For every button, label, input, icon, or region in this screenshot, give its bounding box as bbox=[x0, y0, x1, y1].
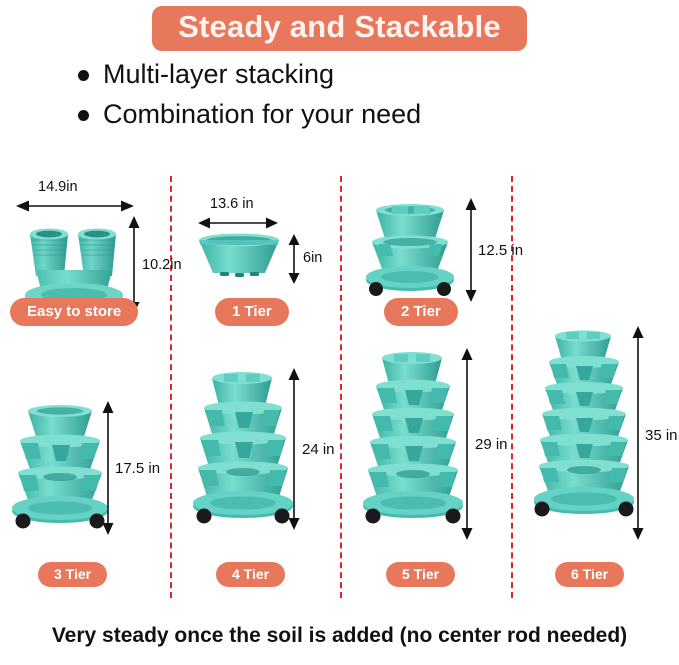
planter-illustration-2-tier bbox=[364, 196, 456, 300]
planter-illustration-6-tier bbox=[531, 324, 637, 542]
width-label: 14.9in bbox=[38, 179, 78, 195]
list-item: Combination for your need bbox=[78, 97, 638, 133]
height-dimension-arrow bbox=[101, 401, 115, 535]
height-dimension-arrow bbox=[464, 198, 478, 302]
width-dimension-arrow bbox=[16, 199, 134, 213]
bullet-dot-icon bbox=[78, 70, 89, 81]
caster-wheel bbox=[535, 502, 550, 517]
badge-row-1-tier: 1 Tier bbox=[215, 298, 289, 326]
caster-wheel bbox=[16, 514, 31, 529]
bullet-text: Multi-layer stacking bbox=[103, 57, 334, 93]
height-label: 12.5 in bbox=[478, 242, 523, 259]
product-cell-5-tier: 29 in 5 Tier bbox=[340, 336, 511, 598]
badge-row-6-tier: 6 Tier bbox=[555, 562, 624, 587]
status-badge[interactable]: 3 Tier bbox=[38, 562, 107, 587]
status-badge[interactable]: 6 Tier bbox=[555, 562, 624, 587]
badge-row-2-tier: 2 Tier bbox=[384, 298, 458, 326]
banner-title: Steady and Stackable bbox=[152, 6, 527, 51]
height-dimension-arrow bbox=[631, 326, 645, 540]
height-label: 6in bbox=[303, 250, 322, 266]
caster-wheel bbox=[366, 509, 381, 524]
height-label: 29 in bbox=[475, 436, 508, 453]
height-label: 35 in bbox=[645, 427, 678, 444]
status-badge[interactable]: 1 Tier bbox=[215, 298, 289, 326]
status-badge[interactable]: 2 Tier bbox=[384, 298, 458, 326]
status-badge[interactable]: Easy to store bbox=[10, 298, 138, 326]
feature-bullet-list: Multi-layer stacking Combination for you… bbox=[78, 57, 638, 136]
product-size-grid: 14.9in bbox=[0, 176, 679, 598]
badge-row-easy-to-store: Easy to store bbox=[10, 298, 138, 326]
list-item: Multi-layer stacking bbox=[78, 57, 638, 93]
height-dimension-arrow bbox=[460, 348, 474, 540]
status-badge[interactable]: 5 Tier bbox=[386, 562, 455, 587]
width-dimension-arrow bbox=[198, 216, 278, 230]
product-cell-4-tier: 24 in 4 Tier bbox=[170, 356, 340, 598]
planter-illustration-1-tier bbox=[196, 231, 282, 281]
height-dimension-arrow bbox=[287, 234, 301, 284]
footer-caption: Very steady once the soil is added (no c… bbox=[0, 624, 679, 648]
planter-illustration-4-tier bbox=[190, 366, 296, 532]
bullet-dot-icon bbox=[78, 110, 89, 121]
height-dimension-arrow bbox=[287, 368, 301, 530]
product-cell-easy-to-store: 14.9in bbox=[0, 176, 170, 336]
bullet-text: Combination for your need bbox=[103, 97, 421, 133]
banner-container: Steady and Stackable bbox=[0, 6, 679, 51]
badge-row-4-tier: 4 Tier bbox=[216, 562, 285, 587]
product-cell-2-tier: 12.5 in 2 Tier bbox=[340, 176, 511, 336]
product-cell-3-tier: 17.5 in 3 Tier bbox=[0, 381, 170, 598]
infographic-page: Steady and Stackable Multi-layer stackin… bbox=[0, 0, 679, 665]
planter-illustration-5-tier bbox=[360, 346, 466, 542]
caster-wheel bbox=[197, 509, 212, 524]
caster-wheel bbox=[437, 282, 451, 296]
height-label: 17.5 in bbox=[115, 460, 160, 477]
status-badge[interactable]: 4 Tier bbox=[216, 562, 285, 587]
badge-row-3-tier: 3 Tier bbox=[38, 562, 107, 587]
planter-illustration-3-tier bbox=[8, 399, 112, 535]
badge-row-5-tier: 5 Tier bbox=[386, 562, 455, 587]
height-label: 24 in bbox=[302, 441, 335, 458]
width-label: 13.6 in bbox=[210, 196, 254, 212]
caster-wheel bbox=[369, 282, 383, 296]
product-cell-6-tier: 35 in 6 Tier bbox=[511, 316, 679, 598]
caster-wheel bbox=[446, 509, 461, 524]
product-cell-1-tier: 13.6 in bbox=[170, 176, 340, 336]
